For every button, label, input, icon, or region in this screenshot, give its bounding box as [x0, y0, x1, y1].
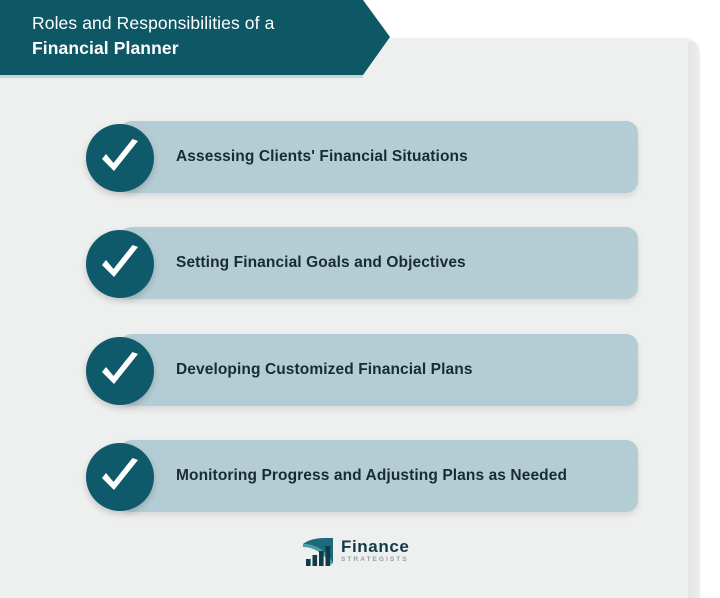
infographic-root: Roles and Responsibilities of a Financia…: [0, 0, 720, 598]
bar-chart-arrow-icon: [302, 535, 336, 567]
list-item: Monitoring Progress and Adjusting Plans …: [86, 440, 638, 512]
list-item-label: Assessing Clients' Financial Situations: [176, 121, 468, 193]
responsibilities-list: Assessing Clients' Financial Situations …: [0, 0, 720, 598]
check-icon: [86, 337, 154, 405]
check-icon: [86, 230, 154, 298]
list-item-label: Developing Customized Financial Plans: [176, 334, 473, 406]
list-item-label: Setting Financial Goals and Objectives: [176, 227, 466, 299]
check-icon: [86, 124, 154, 192]
brand-logo: Finance STRATEGISTS: [302, 533, 432, 569]
list-item-label: Monitoring Progress and Adjusting Plans …: [176, 440, 567, 512]
brand-logo-text: Finance STRATEGISTS: [341, 538, 409, 564]
list-item: Setting Financial Goals and Objectives: [86, 227, 638, 299]
brand-logo-subtitle: STRATEGISTS: [341, 557, 409, 564]
list-item: Assessing Clients' Financial Situations: [86, 121, 638, 193]
brand-logo-title: Finance: [341, 538, 409, 555]
list-item: Developing Customized Financial Plans: [86, 334, 638, 406]
check-icon: [86, 443, 154, 511]
